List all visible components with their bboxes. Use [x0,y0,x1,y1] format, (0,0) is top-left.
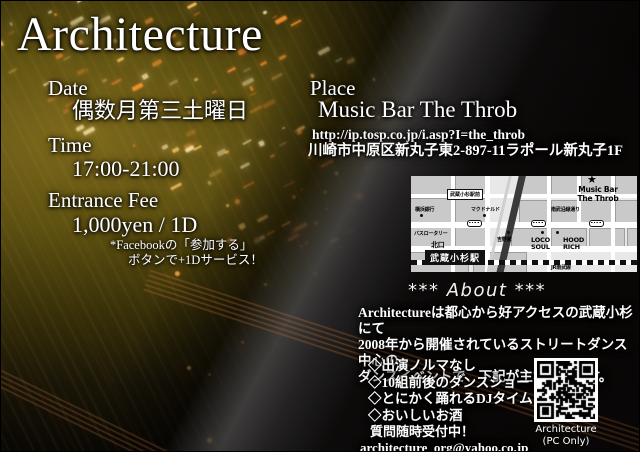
time-label: Time [48,133,92,157]
map-label-loco-soul-2: SOUL [531,243,550,251]
qr-caption: Architecture (PC Only) [533,424,599,448]
qr-code-block: Architecture (PC Only) [533,358,599,448]
map-poi-dot [507,231,510,234]
entrance-fee-value: 1,000yen / 1D [72,212,197,238]
poster-flyer: Architecture Date 偶数月第三土曜日 Time 17:00-21… [0,0,640,452]
contact-prompt: 質問随時受付中！ [370,424,528,440]
qr-code-icon[interactable] [534,358,598,422]
map-label-mcdonalds: マクドナルド [471,206,500,213]
map-label-yoshinoya: 吉野家 [497,236,511,243]
contact-email[interactable]: architecture_org@yahoo.co.jp [360,440,528,452]
map-label-venue: Music Bar The Throb [561,186,635,203]
map-block [455,226,487,248]
facebook-note: *Facebookの「参加する」 ボタンで+1Dサービス！ [110,238,263,268]
map-poi-dot [541,231,544,234]
page-title: Architecture [17,9,263,61]
venue-address: 川崎市中原区新丸子東2-897-11ラポール新丸子1F [308,143,623,160]
list-item: ◇とにかく踊れるDJタイム [368,391,533,408]
about-heading: *** About *** [408,281,546,301]
date-label: Date [48,76,88,100]
map-crosswalk [531,220,546,227]
map-label-venue-line-2: The Throb [561,195,635,204]
list-item: ◇出演ノルマなし [368,358,533,375]
map-road [547,176,551,272]
facebook-note-line-1: *Facebookの「参加する」 [110,238,263,253]
contact-block: 質問随時受付中！ architecture_org@yahoo.co.jp [360,424,528,452]
list-item: ◇おいしいお酒 [368,408,533,425]
map-label-hood-rich-2: RICH [563,243,580,251]
map-poi-dot [556,231,559,234]
map-poi-dot [483,214,486,217]
venue-url[interactable]: http://ip.tosp.co.jp/i.asp?I=the_throb [312,127,525,142]
map-block [615,200,637,224]
map-label-nanbu-street: 南武沿線通り [551,206,580,213]
star-icon: ★ [587,176,597,185]
map-label-station: 武蔵小杉駅 [425,250,485,265]
map-crosswalk [467,220,482,227]
map-label-bus-rotary: バスロータリー [414,230,448,237]
map-label-north-exit: 北口 [431,240,445,250]
facebook-note-line-2: ボタンで+1Dサービス！ [128,253,263,268]
qr-caption-line-2: (PC Only) [533,436,599,448]
map-label-station-front: 武蔵小杉駅前 [447,189,483,200]
entrance-fee-label: Entrance Fee [48,188,158,212]
venue-name: Music Bar The Throb [318,97,517,123]
map-crosswalk [589,220,604,227]
map-label-jr-nanbu: JR南武線 [551,264,571,271]
time-value: 17:00-21:00 [72,156,180,182]
location-map: 東急東横線 JR南武線 武蔵小杉駅前 横浜銀行 マクドナルド バスロータリー 北… [411,176,637,272]
map-poi-dot [420,214,423,217]
map-label-bank: 横浜銀行 [415,206,434,213]
qr-caption-line-1: Architecture [533,424,599,436]
about-body-line-1: Architectureは都心から好アクセスの武蔵小杉にて [358,305,640,337]
date-value: 偶数月第三土曜日 [72,98,248,124]
about-feature-list: ◇出演ノルマなし ◇10組前後のダンスショー ◇とにかく踊れるDJタイム ◇おい… [368,358,533,424]
list-item: ◇10組前後のダンスショー [368,375,533,392]
